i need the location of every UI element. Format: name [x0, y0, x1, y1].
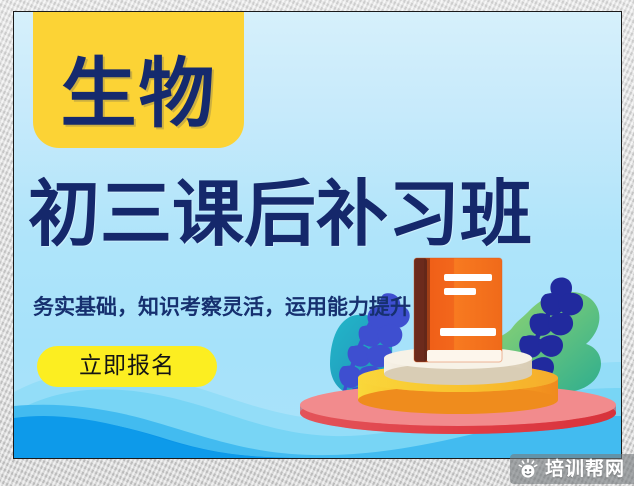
orange-textbook-icon — [414, 258, 502, 362]
poster-frame: 生物 — [0, 0, 634, 486]
watermark: 培训帮网 — [510, 454, 634, 484]
enroll-now-button[interactable]: 立即报名 — [37, 346, 217, 387]
subtitle-text: 务实基础，知识考察灵活，运用能力提升 — [33, 297, 411, 318]
course-promo-banner: 生物 — [13, 11, 622, 459]
enroll-now-button-label: 立即报名 — [79, 355, 175, 378]
watermark-label: 培训帮网 — [545, 460, 625, 479]
banner-canvas: 生物 — [14, 12, 621, 458]
subject-badge: 生物 — [33, 12, 244, 148]
illustration-svg — [292, 250, 621, 436]
book-podium-illustration — [292, 250, 621, 436]
sun-face-icon — [517, 458, 539, 480]
subject-badge-label: 生物 — [61, 56, 217, 132]
page-title: 初三课后补习班 — [28, 178, 608, 250]
